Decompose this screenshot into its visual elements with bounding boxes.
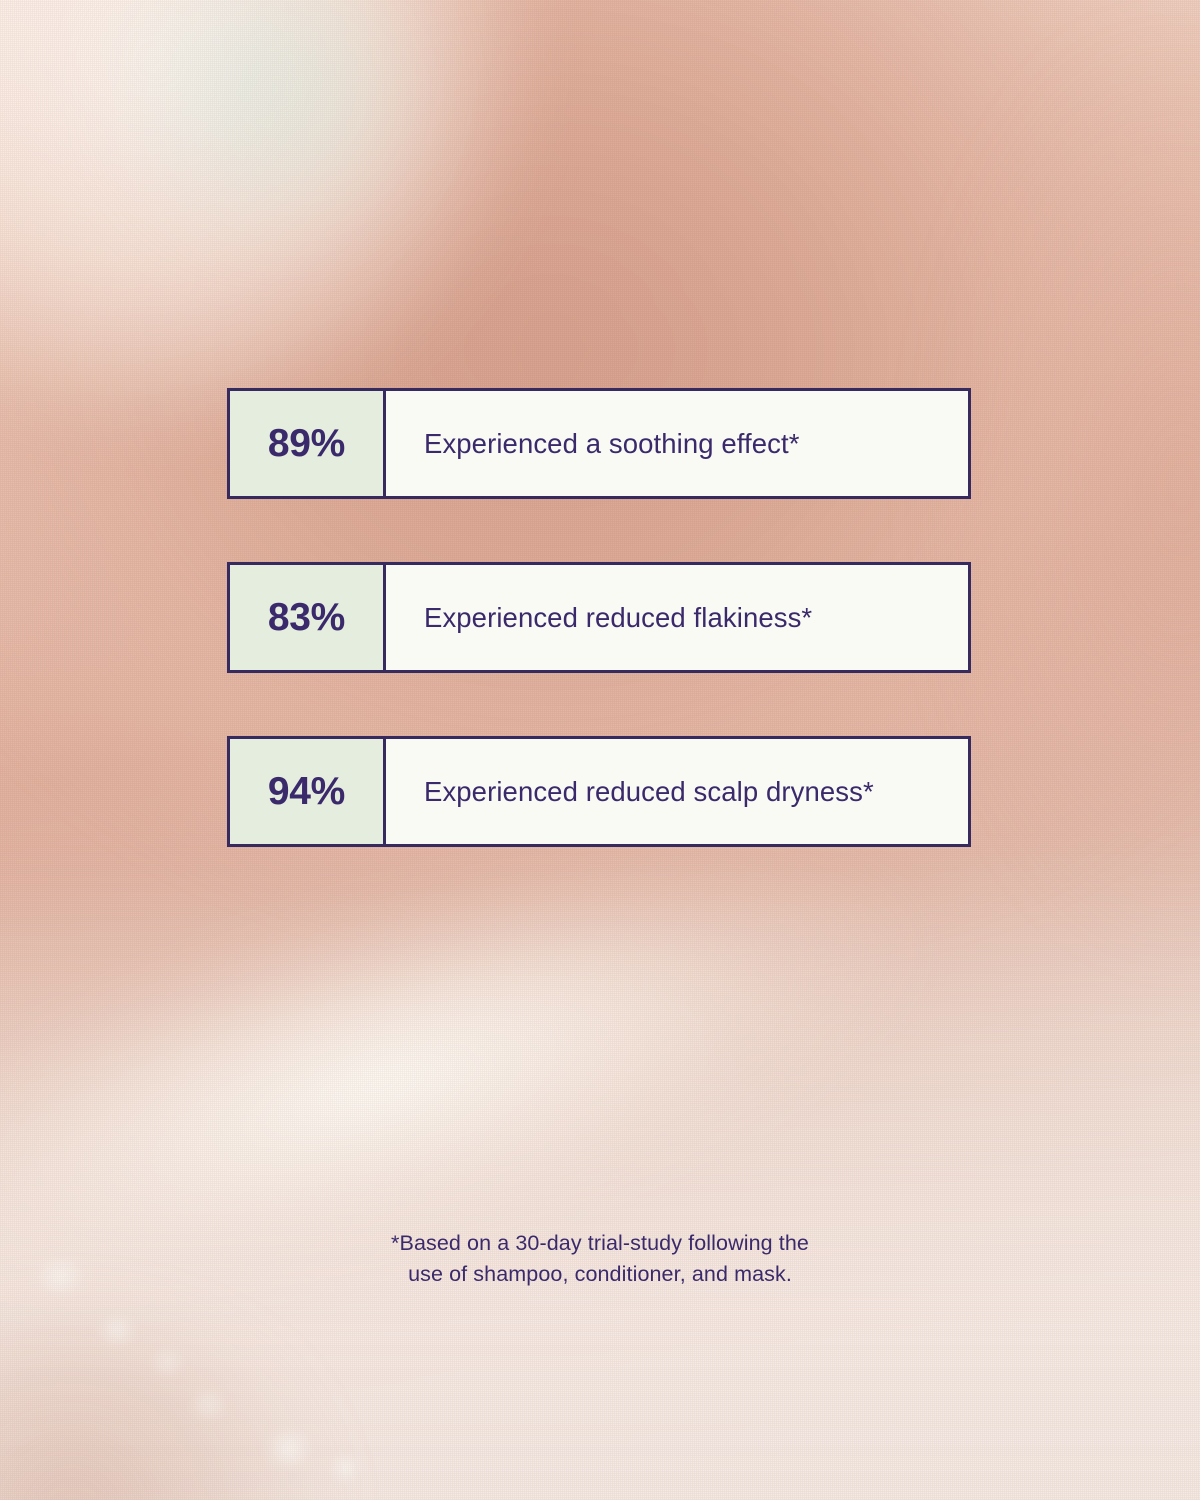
footnote-line-2: use of shampoo, conditioner, and mask. <box>0 1259 1200 1290</box>
stat-label-text: Experienced reduced scalp dryness* <box>424 775 874 809</box>
stat-label-cell: Experienced reduced flakiness* <box>386 565 968 670</box>
stat-label-cell: Experienced a soothing effect* <box>386 391 968 496</box>
stat-label-text: Experienced a soothing effect* <box>424 427 800 461</box>
stat-percent-cell: 94% <box>230 739 386 844</box>
footnote-disclaimer: *Based on a 30-day trial-study following… <box>0 1228 1200 1289</box>
stat-row: 89% Experienced a soothing effect* <box>227 388 971 499</box>
stat-row: 83% Experienced reduced flakiness* <box>227 562 971 673</box>
footnote-line-1: *Based on a 30-day trial-study following… <box>0 1228 1200 1259</box>
stat-percent-value: 94% <box>268 772 345 811</box>
stat-percent-cell: 83% <box>230 565 386 670</box>
stat-percent-value: 89% <box>268 424 345 463</box>
stat-percent-cell: 89% <box>230 391 386 496</box>
stats-module: 89% Experienced a soothing effect* 83% E… <box>0 0 1200 1500</box>
stat-label-cell: Experienced reduced scalp dryness* <box>386 739 968 844</box>
stat-row: 94% Experienced reduced scalp dryness* <box>227 736 971 847</box>
stat-percent-value: 83% <box>268 598 345 637</box>
stat-label-text: Experienced reduced flakiness* <box>424 601 812 635</box>
clinical-results-list: 89% Experienced a soothing effect* 83% E… <box>227 388 971 847</box>
